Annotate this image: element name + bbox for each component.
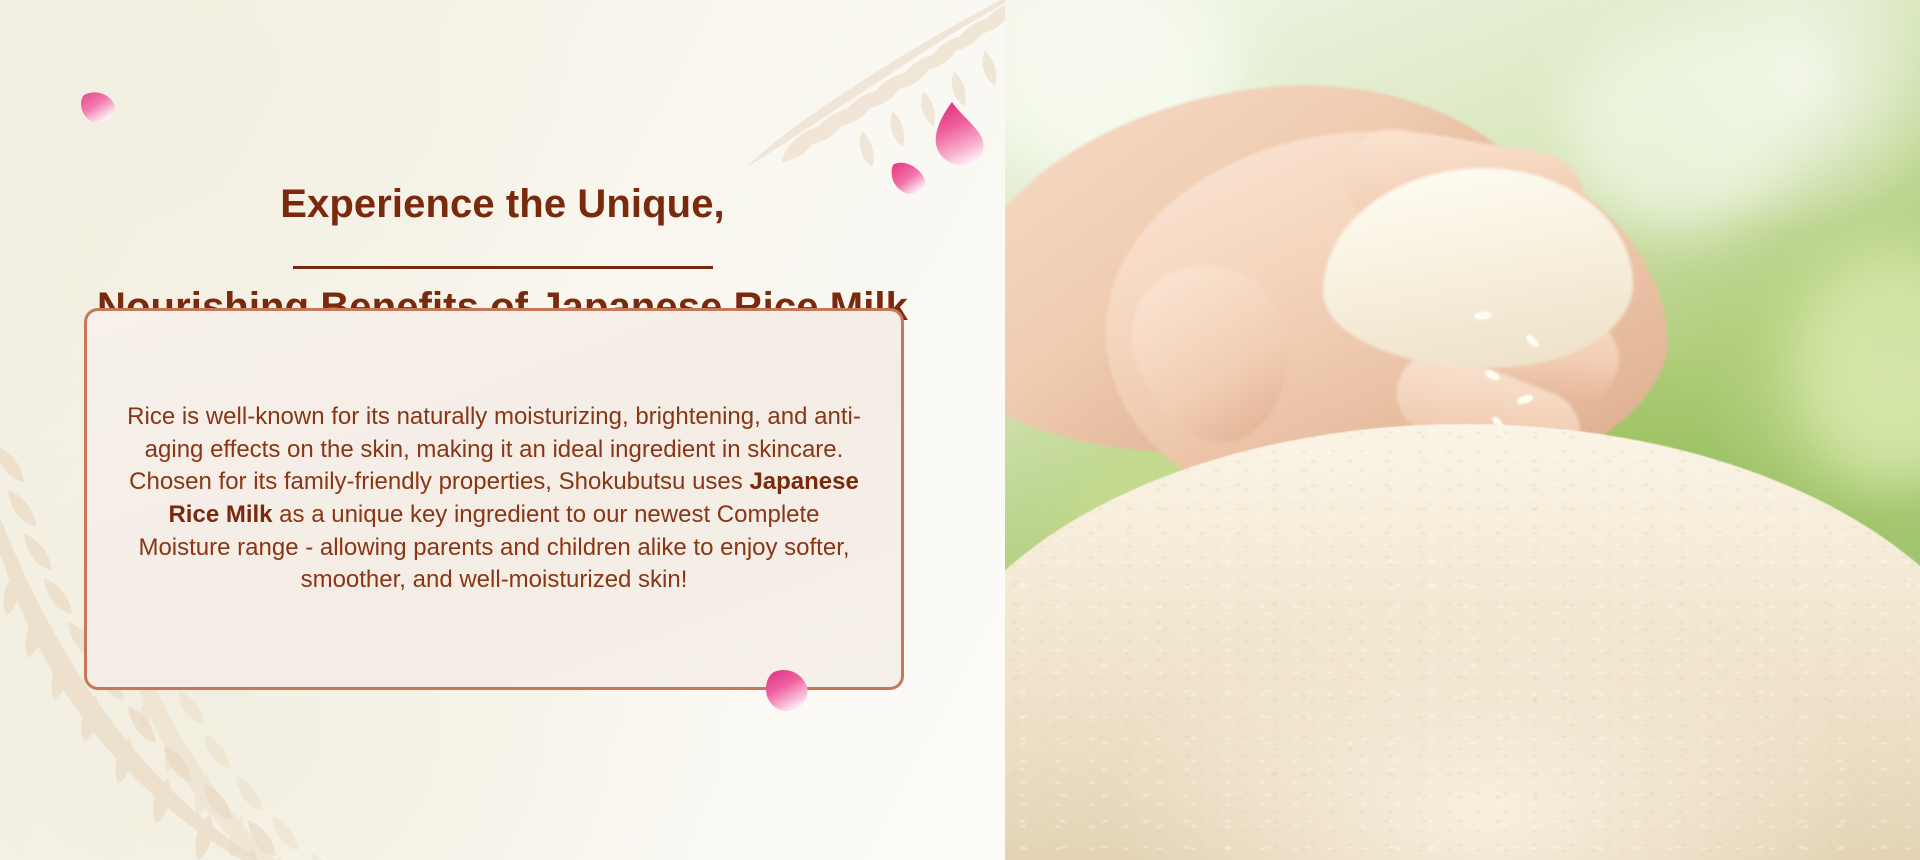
rice-pouring-photo: [1005, 0, 1920, 860]
heading-divider: [293, 266, 713, 269]
pink-rose-petal-icon-top-left: [78, 86, 120, 128]
benefits-paragraph: Rice is well-known for its naturally moi…: [121, 401, 867, 597]
rice-milk-banner: Experience the Unique, Nourishing Benefi…: [0, 0, 1920, 860]
rice-pile-texture: [1005, 424, 1920, 860]
headline-line-1: Experience the Unique,: [40, 179, 965, 230]
benefits-text-box: Rice is well-known for its naturally moi…: [84, 308, 904, 690]
bokeh-highlight: [1795, 250, 1920, 480]
copy-panel: Experience the Unique, Nourishing Benefi…: [0, 0, 1005, 860]
bokeh-highlight: [1565, 20, 1795, 230]
rice-pile: [1005, 424, 1920, 860]
hero-photo-panel: [1005, 0, 1920, 860]
thumb: [1114, 245, 1310, 461]
